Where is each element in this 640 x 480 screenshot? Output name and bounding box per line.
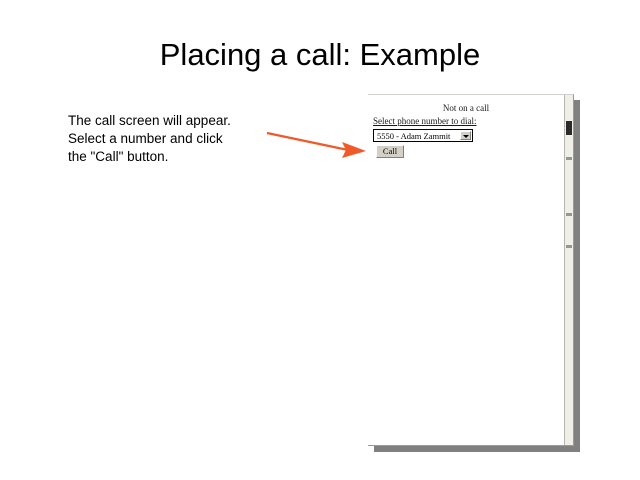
body-text-block: The call screen will appear. Select a nu…	[68, 112, 278, 166]
chevron-down-icon[interactable]	[460, 131, 471, 140]
call-screen-content: Not on a call Select phone number to dia…	[368, 95, 564, 445]
dial-number-label: Select phone number to dial:	[373, 116, 476, 126]
body-text-line-2: Select a number and click	[68, 130, 278, 148]
call-status-text: Not on a call	[368, 103, 564, 113]
call-button[interactable]: Call	[376, 145, 404, 158]
embedded-call-screen-screenshot: Not on a call Select phone number to dia…	[368, 94, 574, 446]
phone-number-select-value: 5550 - Adam Zammit	[377, 131, 458, 141]
vertical-scrollbar[interactable]	[564, 95, 573, 445]
scrollbar-mark	[566, 213, 572, 216]
phone-number-select[interactable]: 5550 - Adam Zammit	[373, 129, 473, 142]
scrollbar-mark	[566, 245, 572, 248]
body-text-line-1: The call screen will appear.	[68, 112, 278, 130]
presentation-slide: Placing a call: Example The call screen …	[0, 0, 640, 480]
scrollbar-thumb[interactable]	[566, 121, 572, 135]
body-text-line-3: the "Call" button.	[68, 148, 278, 166]
scrollbar-mark	[566, 157, 572, 160]
page-title: Placing a call: Example	[0, 38, 640, 72]
